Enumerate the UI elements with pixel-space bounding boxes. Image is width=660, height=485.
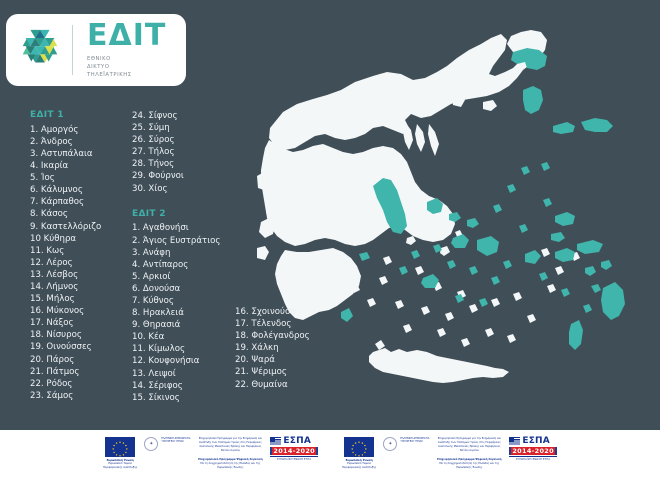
espa-word: ΕΣΠΑ bbox=[283, 437, 311, 446]
logo-title: ΕΔΙΤ bbox=[87, 21, 166, 51]
list-item: 21. Ψέριμος bbox=[235, 366, 350, 378]
list-item: 7. Κύθνος bbox=[132, 295, 242, 307]
list-item: 14. Λήμνος bbox=[30, 281, 130, 293]
list-item: 4. Αντίπαρος bbox=[132, 259, 242, 271]
list-item: 17. Νάξος bbox=[30, 317, 130, 329]
gov-emblem: ✦ ΕΛΛΗΝΙΚΗ ΔΗΜΟΚΡΑΤΙΑ ΥΠΟΥΡΓΕΙΟ ΥΓΕΙΑΣ bbox=[144, 437, 190, 451]
eu-emblem-2: Ευρωπαϊκή Ένωση Ευρωπαϊκό Ταμείο Περιφερ… bbox=[342, 437, 376, 471]
gov-line2-2: ΥΠΟΥΡΓΕΙΟ ΥΓΕΙΑΣ bbox=[400, 440, 429, 444]
list-item: 14. Σέριφος bbox=[132, 380, 242, 392]
espa-logo: ΕΣΠΑ 2014-2020 ΕΥΡΩΠΑΪΚΗ ΕΝΩΣΗ ΕΤΠΑ bbox=[270, 437, 318, 461]
edit1-list-part1: 1. Αμοργός 2. Άνδρος 3. Αστυπάλαια 4. Ικ… bbox=[30, 124, 130, 402]
list-item: 2. Άνδρος bbox=[30, 136, 130, 148]
list-item: 7. Κάρπαθος bbox=[30, 196, 130, 208]
edit1-list-part2: 24. Σίφνος 25. Σύμη 26. Σύρος 27. Τήλος … bbox=[132, 110, 242, 195]
espa-footnote-2: ΕΥΡΩΠΑΪΚΗ ΕΝΩΣΗ ΕΤΠΑ bbox=[509, 456, 557, 461]
edit2-list-part2: 16. Σχοινούσα 17. Τέλενδος 18. Φολέγανδρ… bbox=[235, 306, 350, 391]
op-description: Επιχειρησιακό Πρόγραμμα για την Ενημέρωσ… bbox=[197, 437, 263, 453]
list-item: 26. Σύρος bbox=[132, 134, 242, 146]
list-item: 23. Σάμος bbox=[30, 390, 130, 402]
eu-caption-line3-2: Περιφερειακής Ανάπτυξης bbox=[342, 466, 376, 470]
edit2-list-part1: 1. Αγαθονήσι 2. Άγιος Ευστράτιος 3. Ανάφ… bbox=[132, 222, 242, 403]
list-item: 10. Κέα bbox=[132, 331, 242, 343]
edit-hex-mosaic-icon bbox=[16, 26, 64, 74]
edit1-heading: ΕΔΙΤ 1 bbox=[30, 110, 130, 121]
logo-subtitle-line2: ΔΙΚΤΥΟ bbox=[87, 63, 166, 71]
hellenic-republic-seal-icon: ✦ bbox=[144, 437, 158, 451]
list-column-3: 16. Σχοινούσα 17. Τέλενδος 18. Φολέγανδρ… bbox=[235, 110, 350, 391]
list-item: 5. Αρκιοί bbox=[132, 271, 242, 283]
list-item: 15. Σίκινος bbox=[132, 392, 242, 404]
espa-top-row-2: ΕΣΠΑ bbox=[509, 437, 550, 446]
list-item: 20. Ψαρά bbox=[235, 354, 350, 366]
list-item: 30. Χίος bbox=[132, 183, 242, 195]
list-column-1: ΕΔΙΤ 1 1. Αμοργός 2. Άνδρος 3. Αστυπάλαι… bbox=[30, 110, 130, 402]
list-item: 1. Αμοργός bbox=[30, 124, 130, 136]
list-item: 27. Τήλος bbox=[132, 146, 242, 158]
list-item: 18. Νίσυρος bbox=[30, 329, 130, 341]
list-item: 8. Ηρακλειά bbox=[132, 307, 242, 319]
hellenic-republic-seal-icon-2: ✦ bbox=[383, 437, 397, 451]
list-item: 16. Μύκονος bbox=[30, 305, 130, 317]
op-program-name: Επιχειρησιακό Πρόγραμμα Ψηφιακή Σύγκλιση bbox=[197, 458, 263, 462]
funding-footer: Ευρωπαϊκή Ένωση Ευρωπαϊκό Ταμείο Περιφερ… bbox=[0, 430, 660, 485]
list-item: 13. Λειψοί bbox=[132, 368, 242, 380]
list-item: 5. Ίος bbox=[30, 172, 130, 184]
op-text-block: Επιχειρησιακό Πρόγραμμα για την Ενημέρωσ… bbox=[197, 437, 263, 470]
poster-root: ΕΔΙΤ ΕΘΝΙΚΟ ΔΙΚΤΥΟ ΤΗΛΕΪΑΤΡΙΚΗΣ ΕΔΙΤ 1 1… bbox=[0, 0, 660, 485]
list-item: 29. Φούρνοι bbox=[132, 170, 242, 182]
espa-years-badge: 2014-2020 bbox=[270, 447, 318, 455]
list-item: 3. Ανάφη bbox=[132, 247, 242, 259]
list-item: 4. Ικαρία bbox=[30, 160, 130, 172]
espa-word-2: ΕΣΠΑ bbox=[522, 437, 550, 446]
list-item: 15. Μήλος bbox=[30, 293, 130, 305]
op-cofunding-note-2: Με τη συγχρηματοδότηση της Ελλάδας και τ… bbox=[436, 462, 502, 470]
list-item: 22. Ρόδος bbox=[30, 378, 130, 390]
list-item: 17. Τέλενδος bbox=[235, 318, 350, 330]
list-column-2: 24. Σίφνος 25. Σύμη 26. Σύρος 27. Τήλος … bbox=[132, 110, 242, 404]
list-item: 12. Λέρος bbox=[30, 257, 130, 269]
list-item: 11. Κίμωλος bbox=[132, 343, 242, 355]
list-item: 9. Καστελλόριζο bbox=[30, 221, 130, 233]
list-item: 11. Κως bbox=[30, 245, 130, 257]
eu-caption-2: Ευρωπαϊκή Ένωση Ευρωπαϊκό Ταμείο Περιφερ… bbox=[342, 459, 376, 471]
list-item: 6. Δονούσα bbox=[132, 283, 242, 295]
gov-text: ΕΛΛΗΝΙΚΗ ΔΗΜΟΚΡΑΤΙΑ ΥΠΟΥΡΓΕΙΟ ΥΓΕΙΑΣ bbox=[161, 437, 190, 444]
list-item: 3. Αστυπάλαια bbox=[30, 148, 130, 160]
list-item: 13. Λέσβος bbox=[30, 269, 130, 281]
list-item: 12. Κουφονήσια bbox=[132, 355, 242, 367]
gov-text-2: ΕΛΛΗΝΙΚΗ ΔΗΜΟΚΡΑΤΙΑ ΥΠΟΥΡΓΕΙΟ ΥΓΕΙΑΣ bbox=[400, 437, 429, 444]
espa-years: 2014-2020 bbox=[272, 447, 316, 455]
edit-logo-card: ΕΔΙΤ ΕΘΝΙΚΟ ΔΙΚΤΥΟ ΤΗΛΕΪΑΤΡΙΚΗΣ bbox=[6, 14, 186, 86]
funding-group-2: Ευρωπαϊκή Ένωση Ευρωπαϊκό Ταμείο Περιφερ… bbox=[342, 437, 557, 479]
logo-subtitle: ΕΘΝΙΚΟ ΔΙΚΤΥΟ ΤΗΛΕΪΑΤΡΙΚΗΣ bbox=[87, 55, 166, 79]
list-item: 25. Σύμη bbox=[132, 122, 242, 134]
list-item: 19. Οινούσσες bbox=[30, 341, 130, 353]
eu-flag-icon bbox=[105, 437, 135, 457]
espa-years-badge-2: 2014-2020 bbox=[509, 447, 557, 455]
espa-top-row: ΕΣΠΑ bbox=[270, 437, 311, 446]
logo-divider bbox=[72, 25, 73, 75]
greek-flag-icon-2 bbox=[509, 437, 520, 446]
edit2-heading: ΕΔΙΤ 2 bbox=[132, 209, 242, 220]
list-item: 24. Σίφνος bbox=[132, 110, 242, 122]
logo-wordmark: ΕΔΙΤ ΕΘΝΙΚΟ ΔΙΚΤΥΟ ΤΗΛΕΪΑΤΡΙΚΗΣ bbox=[81, 21, 166, 79]
op-description-2: Επιχειρησιακό Πρόγραμμα για την Ενημέρωσ… bbox=[436, 437, 502, 453]
logo-subtitle-line1: ΕΘΝΙΚΟ bbox=[87, 55, 166, 63]
eu-flag-icon-2 bbox=[344, 437, 374, 457]
list-item: 10 Κύθηρα bbox=[30, 233, 130, 245]
gov-line2: ΥΠΟΥΡΓΕΙΟ ΥΓΕΙΑΣ bbox=[161, 440, 190, 444]
eu-emblem: Ευρωπαϊκή Ένωση Ευρωπαϊκό Ταμείο Περιφερ… bbox=[103, 437, 137, 471]
list-item: 8. Κάσος bbox=[30, 208, 130, 220]
list-item: 21. Πάτμος bbox=[30, 366, 130, 378]
list-item: 9. Θηρασιά bbox=[132, 319, 242, 331]
eu-caption-line3: Περιφερειακής Ανάπτυξης bbox=[103, 466, 137, 470]
list-item: 18. Φολέγανδρος bbox=[235, 330, 350, 342]
espa-logo-2: ΕΣΠΑ 2014-2020 ΕΥΡΩΠΑΪΚΗ ΕΝΩΣΗ ΕΤΠΑ bbox=[509, 437, 557, 461]
gov-emblem-2: ✦ ΕΛΛΗΝΙΚΗ ΔΗΜΟΚΡΑΤΙΑ ΥΠΟΥΡΓΕΙΟ ΥΓΕΙΑΣ bbox=[383, 437, 429, 451]
list-item: 2. Άγιος Ευστράτιος bbox=[132, 235, 242, 247]
list-item: 19. Χάλκη bbox=[235, 342, 350, 354]
funding-group-1: Ευρωπαϊκή Ένωση Ευρωπαϊκό Ταμείο Περιφερ… bbox=[103, 437, 318, 479]
op-cofunding-note: Με τη συγχρηματοδότηση της Ελλάδας και τ… bbox=[197, 462, 263, 470]
list-item: 1. Αγαθονήσι bbox=[132, 222, 242, 234]
greek-flag-icon bbox=[270, 437, 281, 446]
list-item: 6. Κάλυμνος bbox=[30, 184, 130, 196]
list-item: 22. Θυμαίνα bbox=[235, 379, 350, 391]
list-item: 20. Πάρος bbox=[30, 354, 130, 366]
espa-footnote: ΕΥΡΩΠΑΪΚΗ ΕΝΩΣΗ ΕΤΠΑ bbox=[270, 456, 318, 461]
list-item: 28. Τήνος bbox=[132, 158, 242, 170]
op-program-name-2: Επιχειρησιακό Πρόγραμμα Ψηφιακή Σύγκλιση bbox=[436, 458, 502, 462]
espa-years-2: 2014-2020 bbox=[511, 447, 555, 455]
eu-caption: Ευρωπαϊκή Ένωση Ευρωπαϊκό Ταμείο Περιφερ… bbox=[103, 459, 137, 471]
list-item: 16. Σχοινούσα bbox=[235, 306, 350, 318]
op-text-block-2: Επιχειρησιακό Πρόγραμμα για την Ενημέρωσ… bbox=[436, 437, 502, 470]
logo-subtitle-line3: ΤΗΛΕΪΑΤΡΙΚΗΣ bbox=[87, 71, 166, 79]
